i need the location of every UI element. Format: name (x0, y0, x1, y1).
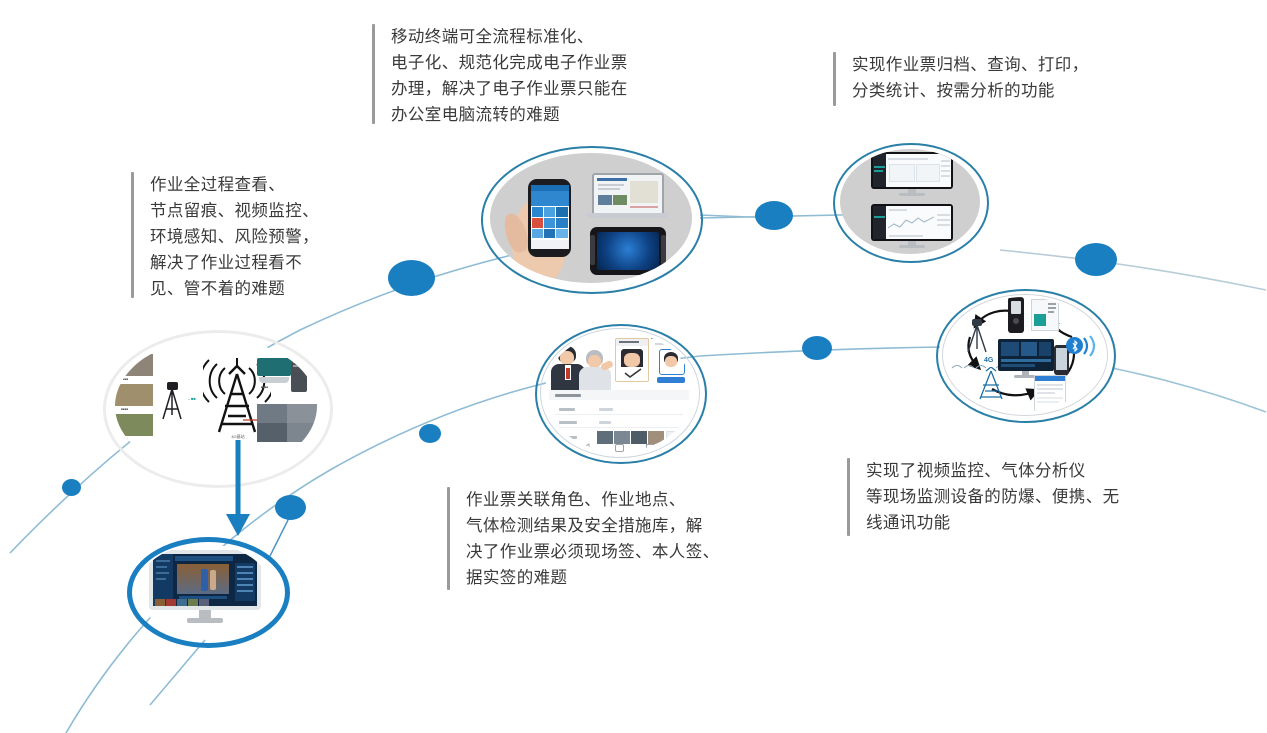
site-photo (115, 414, 153, 436)
dot-lower-left[interactable] (275, 495, 306, 520)
dashboard-rule (937, 214, 950, 216)
node-mobile-devices[interactable] (481, 146, 703, 294)
node-transmission-tower[interactable]: ■■■■ ■■■■ ■■■■ ↔■■ (103, 330, 331, 486)
node-image-wireless-monitoring: 4G (946, 297, 1102, 411)
nav-back-icon (583, 443, 591, 451)
dashboard-chart (888, 214, 934, 234)
dot-center-low[interactable] (419, 424, 441, 443)
monitor-foot (187, 618, 223, 623)
sensor-board-icon (1031, 299, 1059, 331)
dashboard-rule (888, 158, 928, 160)
dashboard-rule (941, 175, 950, 177)
tablet-grip (661, 235, 666, 265)
node-wireless-monitoring[interactable]: 4G (936, 289, 1116, 423)
phone-screen (531, 185, 569, 249)
tablet-grip (590, 235, 595, 265)
callout-whole-process-view: 作业全过程查看、 节点留痕、视频监控、 环境感知、风险预警， 解决了作业过程看不… (131, 172, 319, 302)
person-figure (579, 350, 611, 390)
wireless-link-label: ↔■■ (187, 396, 196, 401)
laptop-photo (613, 195, 627, 205)
form-field-value (599, 421, 611, 424)
callout-text: 实现了视频监控、气体分析仪 等现场监测设备的防爆、便携、无 线通讯功能 (866, 458, 1120, 536)
node-image-face-signature (545, 332, 693, 452)
phone-tile (544, 218, 555, 228)
gas-detector-icon (1008, 297, 1024, 333)
laptop-base (586, 213, 668, 218)
tablet-screen (597, 232, 659, 270)
control-monitor-icon (998, 339, 1054, 379)
face-capture-panel (651, 334, 691, 386)
node-image-surveillance-console (137, 544, 271, 636)
form-field-value (599, 408, 613, 411)
laptop-textline (598, 184, 624, 186)
monitor-frame (149, 550, 261, 610)
callout-text: 作业票关联角色、作业地点、 气体检测结果及安全措施库，解 决了作业票必须现场签、… (466, 487, 720, 591)
callout-text: 作业全过程查看、 节点留痕、视频监控、 环境感知、风险预警， 解决了作业过程看不… (150, 172, 319, 302)
monitor-stand (199, 610, 211, 618)
dashboard-rule (941, 160, 950, 162)
tripod-camera-icon (964, 319, 990, 353)
site-photo (115, 354, 153, 376)
dashboard-sidebar (873, 206, 886, 239)
server-monitor-icon: ■■■■ (257, 358, 309, 400)
phone-tile (556, 229, 568, 238)
tripod-legs (159, 389, 185, 420)
mobile-form-panel (549, 390, 689, 448)
node-surveillance-console[interactable] (127, 537, 285, 643)
phone-tile (532, 229, 543, 238)
console-monitor (149, 550, 261, 626)
dashboard-rule (889, 235, 923, 237)
phone-tile (544, 207, 555, 217)
callout-explosion-proof-devices: 实现了视频监控、气体分析仪 等现场监测设备的防爆、便携、无 线通讯功能 (847, 458, 1120, 536)
laptop-map (630, 181, 658, 203)
form-section-title (555, 394, 581, 397)
server-caption: ■■■■ (261, 385, 268, 389)
site-photo-caption: ■■■■ (121, 377, 128, 381)
site-photo (115, 384, 153, 406)
console-titlebar (175, 556, 233, 561)
monitor-screen (153, 554, 257, 606)
dot-bottom-far-left[interactable] (62, 479, 81, 496)
node-image-mobile-devices (490, 153, 692, 283)
phone-banner (531, 191, 569, 206)
tripod-camera-icon (159, 382, 185, 420)
dashboard-rule (937, 224, 950, 226)
callout-accent-bar (372, 24, 375, 124)
callout-accent-bar (447, 487, 450, 590)
dashboard-card (916, 164, 940, 182)
dashboard-rule (889, 209, 907, 211)
node-image-transmission-tower: ■■■■ ■■■■ ■■■■ ↔■■ (115, 338, 317, 474)
node-dual-monitors[interactable] (833, 143, 989, 263)
monitor-frame (871, 152, 953, 189)
dashboard-rule (941, 170, 950, 172)
laptop-titlebar (597, 178, 627, 181)
bluetooth-waves (1082, 335, 1100, 357)
laptop-textline (598, 188, 620, 190)
check-icon (624, 368, 642, 379)
console-video-feed (177, 564, 229, 594)
dot-right-upper[interactable] (1075, 243, 1117, 276)
id-card-icon (615, 338, 649, 382)
node-face-signature[interactable] (535, 324, 707, 464)
laptop-screen (592, 173, 664, 217)
callout-mobile-terminal: 移动终端可全流程标准化、 电子化、规范化完成电子作业票 办理，解决了电子作业票只… (372, 24, 628, 128)
callout-archive-query-print: 实现作业票归档、查询、打印， 分类统计、按需分析的功能 (833, 52, 1089, 106)
phone-tabbar (531, 240, 569, 249)
callout-text: 移动终端可全流程标准化、 电子化、规范化完成电子作业票 办理，解决了电子作业票只… (391, 24, 628, 128)
site-photo-caption: ■■■■ (121, 437, 128, 441)
laptop-icon (586, 173, 668, 221)
infographic-canvas: 移动终端可全流程标准化、 电子化、规范化完成电子作业票 办理，解决了电子作业票只… (0, 0, 1267, 733)
form-field-label (559, 408, 575, 411)
node-image-dual-monitors (840, 149, 980, 254)
dashboard-accent (874, 216, 885, 218)
phone-tile (556, 207, 568, 217)
tripod-legs (964, 325, 990, 353)
report-panel-icon (1034, 375, 1066, 411)
rugged-tablet-icon (590, 227, 666, 275)
site-photo-caption: ■■■■ (121, 407, 128, 411)
dot-left-mid[interactable] (388, 260, 435, 296)
dot-mid-right[interactable] (802, 336, 832, 360)
dashboard-accent (874, 170, 883, 172)
dashboard-accent (874, 166, 885, 168)
phone-tile (532, 218, 543, 228)
callout-accent-bar (847, 458, 850, 536)
bluetooth-glyph (1071, 340, 1079, 352)
phone-tile (544, 229, 555, 238)
monitor-foot (899, 245, 925, 248)
phone-tile (532, 207, 543, 217)
dashboard-rule (937, 219, 950, 221)
callout-accent-bar (131, 172, 134, 298)
smartphone-icon (528, 179, 571, 257)
monitor-screen (873, 206, 951, 239)
dot-top-right[interactable] (755, 201, 793, 230)
monitor-top (871, 152, 953, 196)
laptop-textline (630, 206, 658, 208)
console-right-list (235, 563, 255, 601)
surveillance-montage (257, 404, 317, 442)
form-field-label (559, 436, 577, 439)
monitor-screen (873, 154, 951, 187)
nav-recents-icon (646, 444, 655, 452)
arrow-down-to-console (224, 440, 252, 540)
android-navbar (545, 442, 693, 452)
laptop-photo (598, 195, 612, 205)
bluetooth-icon (1066, 333, 1100, 359)
phone-tile (556, 218, 568, 228)
monitor-foot (899, 193, 925, 196)
callout-text: 实现作业票归档、查询、打印， 分类统计、按需分析的功能 (852, 52, 1089, 104)
dashboard-card (889, 164, 915, 182)
nav-home-icon (615, 444, 624, 452)
monitor-frame (871, 204, 953, 241)
monitor-bottom (871, 204, 953, 248)
callout-ticket-association: 作业票关联角色、作业地点、 气体检测结果及安全措施库，解 决了作业票必须现场签、… (447, 487, 720, 591)
form-field-label (559, 421, 577, 424)
callout-accent-bar (833, 52, 836, 106)
dashboard-rule (941, 165, 950, 167)
